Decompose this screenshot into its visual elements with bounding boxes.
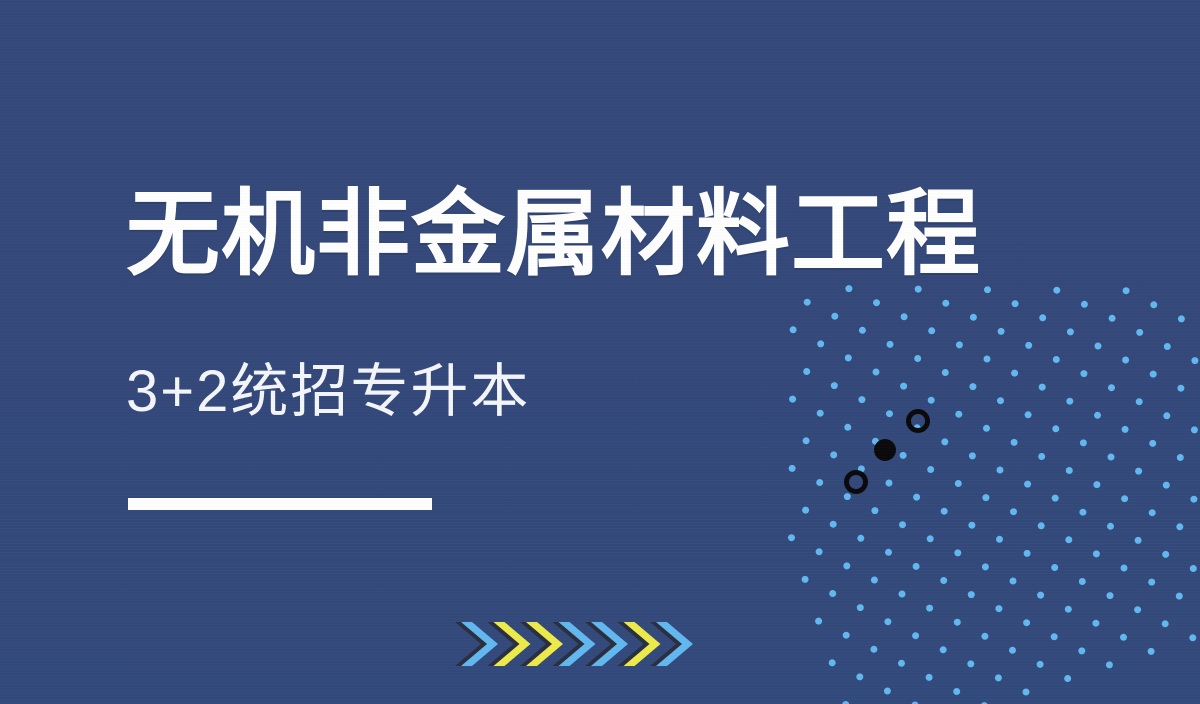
ring-dot-accent-upper-icon — [906, 409, 930, 433]
page-title: 无机非金属材料工程 — [126, 178, 981, 290]
title-divider — [128, 498, 432, 510]
poster-canvas: 无机非金属材料工程 3+2统招专升本 — [0, 0, 1200, 704]
chevron-strip-decoration — [455, 615, 705, 673]
page-subtitle: 3+2统招专升本 — [126, 356, 530, 428]
solid-dot-accent-icon — [874, 439, 896, 461]
dot-grid-decoration — [0, 0, 1200, 704]
ring-dot-accent-lower-icon — [844, 470, 868, 494]
